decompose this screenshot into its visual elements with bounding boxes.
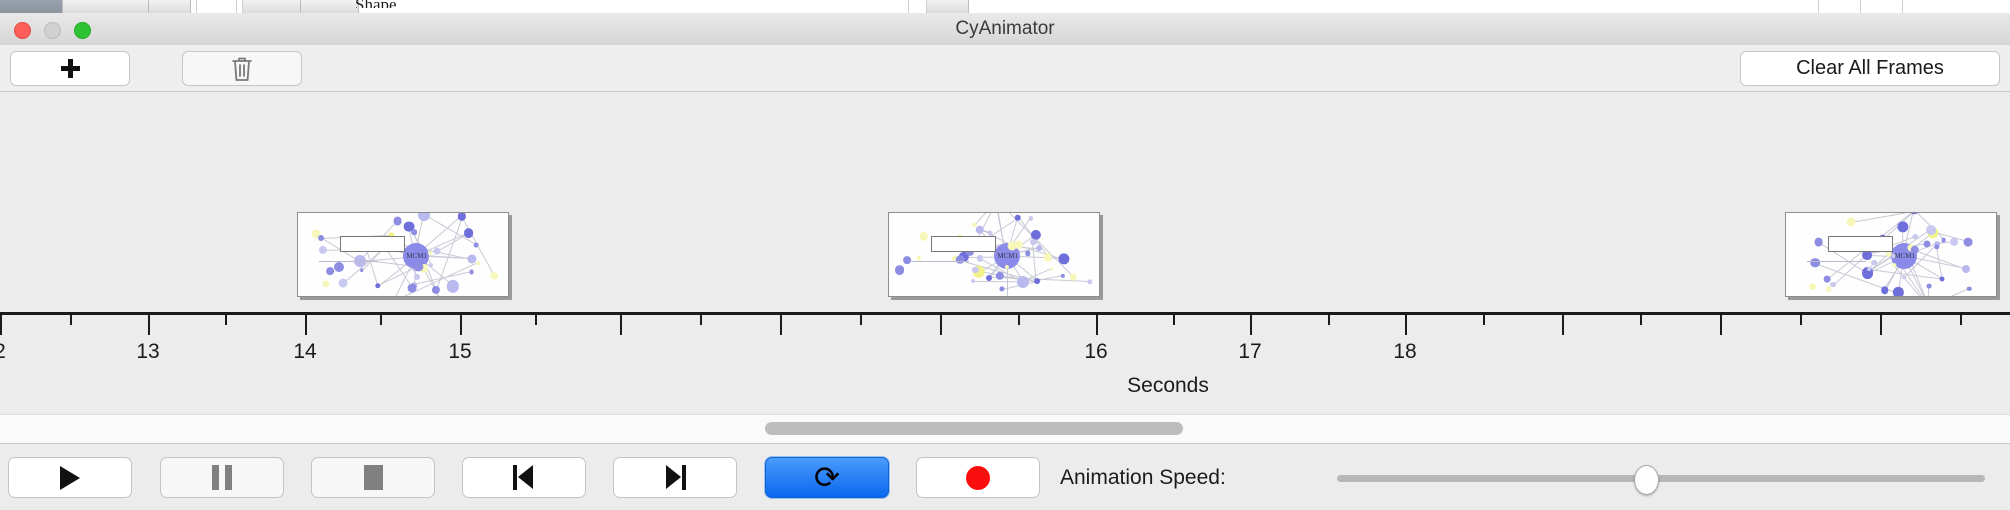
axis-tick-major	[305, 315, 307, 335]
background-chip	[190, 0, 197, 13]
network-node	[1008, 242, 1017, 251]
network-node	[895, 265, 905, 275]
network-node	[318, 245, 326, 253]
network-node	[327, 267, 335, 275]
scrollbar-thumb[interactable]	[765, 422, 1183, 435]
network-node	[1830, 282, 1836, 288]
axis-tick-major	[1096, 315, 1098, 335]
background-fragment-text: Shape	[355, 0, 397, 8]
previous-frame-button[interactable]	[462, 457, 586, 498]
network-node	[1031, 230, 1041, 240]
stop-button[interactable]	[311, 457, 435, 498]
skip-forward-icon	[664, 465, 686, 490]
network-node	[1941, 237, 1946, 242]
axis-tick-minor	[940, 315, 942, 325]
axis-tick-minor	[1800, 315, 1802, 325]
network-node	[975, 225, 984, 234]
axis-tick-minor	[1483, 315, 1485, 325]
axis-tick-label: 18	[1393, 340, 1416, 364]
network-node	[1912, 234, 1918, 240]
animation-speed-slider[interactable]	[1337, 475, 1985, 482]
axis-tick-minor	[1960, 315, 1962, 325]
frame-toolbar: Clear All Frames	[0, 45, 2010, 92]
network-node	[999, 286, 1004, 291]
network-node	[318, 235, 324, 241]
axis-tick-major	[1405, 315, 1407, 335]
network-node	[476, 262, 479, 265]
network-node	[339, 278, 348, 287]
network-hub-label: MCM1	[997, 252, 1018, 260]
network-node	[1867, 268, 1871, 272]
network-node	[491, 272, 499, 280]
axis-tick-minor	[700, 315, 702, 325]
network-node	[1036, 245, 1042, 251]
window-titlebar: CyAnimator	[0, 13, 2010, 46]
network-node	[467, 254, 476, 263]
stop-icon	[364, 465, 383, 490]
skip-back-icon	[513, 465, 535, 490]
playback-control-bar: ⟳ Animation Speed:	[0, 443, 2010, 510]
network-node	[334, 262, 344, 272]
next-frame-button[interactable]	[613, 457, 737, 498]
plus-icon	[61, 59, 80, 78]
network-node	[917, 256, 922, 261]
network-node	[1061, 274, 1065, 278]
network-node	[1962, 265, 1970, 273]
timeline-frame-thumbnail[interactable]: MCM1	[1785, 212, 1997, 297]
background-chip	[236, 0, 243, 13]
record-button[interactable]	[916, 457, 1040, 498]
axis-tick-minor	[70, 315, 72, 325]
network-node	[1028, 216, 1032, 220]
trash-icon	[230, 55, 254, 82]
network-node	[1927, 284, 1932, 289]
network-annotation-box	[931, 236, 996, 252]
network-node	[457, 213, 465, 220]
add-frame-button[interactable]	[10, 51, 130, 86]
network-node	[1030, 239, 1036, 245]
pause-icon	[212, 465, 232, 490]
network-node	[411, 229, 417, 235]
animation-speed-label: Animation Speed:	[1060, 466, 1226, 490]
network-node	[1810, 258, 1820, 268]
network-caption-line	[319, 261, 378, 262]
pause-button[interactable]	[160, 457, 284, 498]
network-node	[920, 232, 928, 240]
network-node	[407, 284, 416, 293]
network-node	[434, 248, 441, 255]
axis-tick-label: 17	[1238, 340, 1261, 364]
axis-tick-minor	[1173, 315, 1175, 325]
network-node	[986, 275, 992, 281]
background-chip	[908, 0, 927, 13]
network-node	[971, 279, 975, 283]
network-node	[322, 280, 329, 287]
network-annotation-box	[1828, 236, 1893, 252]
network-node	[1034, 278, 1040, 284]
network-hub-label: MCM1	[406, 252, 427, 260]
network-node	[1967, 286, 1971, 290]
network-node	[996, 272, 1004, 280]
network-node	[1897, 221, 1908, 232]
background-chip	[0, 0, 63, 13]
axis-tick-label: 14	[293, 340, 316, 364]
network-node	[1871, 260, 1877, 266]
network-hub-label: MCM1	[1894, 252, 1915, 260]
background-window-strip: Shape	[0, 0, 2010, 13]
background-chip	[1902, 0, 2010, 13]
play-icon	[60, 466, 80, 490]
network-caption-line	[1807, 261, 1866, 262]
network-node	[1950, 238, 1958, 246]
axis-tick-minor	[620, 315, 622, 325]
timeline-frame-thumbnail[interactable]: MCM1	[888, 212, 1100, 297]
network-node	[393, 217, 402, 226]
frame-network-preview: MCM1	[889, 213, 1099, 296]
axis-tick-label: 13	[136, 340, 159, 364]
axis-tick-label: 16	[1084, 340, 1107, 364]
frame-network-preview: MCM1	[298, 213, 508, 296]
network-node	[1893, 287, 1903, 296]
network-node	[1025, 251, 1030, 256]
axis-tick-minor	[225, 315, 227, 325]
delete-frame-button[interactable]	[182, 51, 302, 86]
network-node	[1826, 286, 1832, 292]
axis-tick-minor	[1880, 315, 1882, 325]
axis-tick-minor	[380, 315, 382, 325]
axis-tick-label: 2	[0, 340, 6, 364]
network-edge	[1929, 288, 1969, 296]
background-chip	[196, 0, 237, 13]
network-node	[1087, 279, 1092, 284]
background-chip	[300, 0, 359, 13]
background-chip	[148, 0, 191, 13]
axis-tick-minor	[535, 315, 537, 325]
record-icon	[966, 466, 990, 490]
animation-speed-slider-thumb[interactable]	[1634, 465, 1659, 495]
background-chip	[358, 0, 909, 13]
network-node	[1809, 283, 1817, 291]
background-chip	[1860, 0, 1903, 13]
timeline-axis-line	[0, 312, 2010, 315]
axis-tick-minor	[1562, 315, 1564, 325]
play-button[interactable]	[8, 457, 132, 498]
network-node	[429, 263, 433, 267]
network-node	[375, 283, 380, 288]
network-edge	[973, 281, 1022, 282]
background-chip	[968, 0, 1819, 13]
background-chip	[926, 0, 969, 13]
axis-tick-major	[148, 315, 150, 335]
network-node	[418, 213, 430, 221]
axis-tick-major	[1250, 315, 1252, 335]
network-node	[1963, 238, 1972, 247]
axis-tick-minor	[1720, 315, 1722, 325]
network-node	[1058, 253, 1069, 264]
background-chip	[242, 0, 301, 13]
network-node	[1070, 274, 1077, 281]
network-node	[1050, 267, 1053, 270]
network-node	[1926, 225, 1936, 235]
network-node	[1940, 277, 1945, 282]
cyanimator-window: Shape CyAnimator Clear All Frames MCM1MC…	[0, 0, 2010, 510]
timeline-frame-thumbnail[interactable]: MCM1	[297, 212, 509, 297]
network-node	[1043, 253, 1052, 262]
network-node	[1881, 286, 1889, 294]
timeline-horizontal-scrollbar[interactable]	[0, 414, 2010, 444]
timeline-panel[interactable]: MCM1MCM1MCM12131415161718Seconds	[0, 92, 2010, 414]
network-node	[1934, 244, 1939, 249]
axis-tick-major	[460, 315, 462, 335]
network-node	[1017, 276, 1029, 288]
frame-network-preview: MCM1	[1786, 213, 1996, 296]
network-node	[473, 242, 478, 247]
clear-all-frames-button[interactable]: Clear All Frames	[1740, 51, 2000, 86]
axis-tick-minor	[780, 315, 782, 325]
network-node	[446, 280, 458, 292]
background-chip	[1818, 0, 1861, 13]
axis-tick-minor	[1018, 315, 1020, 325]
network-node	[904, 256, 912, 264]
axis-tick-minor	[860, 315, 862, 325]
network-caption-line	[910, 261, 969, 262]
axis-tick-label: 15	[448, 340, 471, 364]
network-node	[414, 274, 420, 280]
network-node	[1014, 214, 1021, 221]
network-node	[1824, 276, 1831, 283]
axis-title: Seconds	[1127, 374, 1209, 398]
axis-tick-minor	[1640, 315, 1642, 325]
network-node	[360, 268, 364, 272]
window-title: CyAnimator	[0, 13, 2010, 45]
network-node	[469, 270, 474, 275]
network-node	[464, 228, 474, 238]
loop-button[interactable]: ⟳	[765, 457, 889, 498]
network-node	[1814, 238, 1823, 247]
background-chip	[62, 0, 149, 13]
axis-tick-minor	[1328, 315, 1330, 325]
axis-tick-major	[0, 315, 2, 335]
network-node	[1902, 275, 1906, 279]
network-node	[956, 255, 965, 264]
loop-icon: ⟳	[814, 462, 840, 493]
network-node	[1846, 217, 1855, 226]
network-node	[431, 286, 439, 294]
network-annotation-box	[340, 236, 405, 252]
